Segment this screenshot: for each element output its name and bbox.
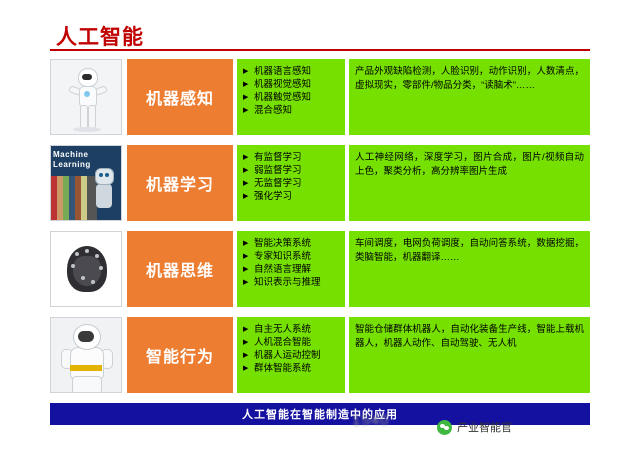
list-item: 强化学习 bbox=[243, 190, 341, 203]
list-item: 人机混合智能 bbox=[243, 336, 341, 349]
detail-text-0: 产品外观缺陷检测，人脸识别，动作识别，人数清点，虚拟现实，零部件/物品分类，“读… bbox=[349, 59, 590, 135]
machine-learning-photo: Machine Learning bbox=[50, 145, 122, 221]
diagram-row: 智能行为 自主无人系统 人机混合智能 机器人运动控制 群体智能系统 智能仓储群体… bbox=[50, 317, 590, 393]
bullet-list-3: 自主无人系统 人机混合智能 机器人运动控制 群体智能系统 bbox=[237, 317, 345, 393]
bullet-list-1: 有监督学习 弱监督学习 无监督学习 强化学习 bbox=[237, 145, 345, 221]
bullet-list-2: 智能决策系统 专家知识系统 自然语言理解 知识表示与推理 bbox=[237, 231, 345, 307]
category-label-0[interactable]: 机器感知 bbox=[127, 59, 233, 135]
list-item: 知识表示与推理 bbox=[243, 276, 341, 289]
diagram-row: 机器感知 机器语言感知 机器视觉感知 机器触觉感知 混合感知 产品外观缺陷检测，… bbox=[50, 59, 590, 135]
detail-text-3: 智能仓储群体机器人，自动化装备生产线，智能上载机器人，机器人动作、自动驾驶、无人… bbox=[349, 317, 590, 393]
bullet-list-0: 机器语言感知 机器视觉感知 机器触觉感知 混合感知 bbox=[237, 59, 345, 135]
watermark-label: 产业智能官 bbox=[457, 419, 512, 435]
diagram-row: 机器思维 智能决策系统 专家知识系统 自然语言理解 知识表示与推理 车间调度，电… bbox=[50, 231, 590, 307]
list-item: 机器触觉感知 bbox=[243, 91, 341, 104]
list-item: 机器人运动控制 bbox=[243, 349, 341, 362]
diagram-row: Machine Learning 机器学习 有监督学习 弱监督学习 无监督学习 … bbox=[50, 145, 590, 221]
category-label-3[interactable]: 智能行为 bbox=[127, 317, 233, 393]
blurred-number: 1540 bbox=[352, 412, 389, 429]
list-item: 自然语言理解 bbox=[243, 263, 341, 276]
slide-canvas: 人工智能 机器感知 机器语言感知 机器视觉感知 机器触觉感知 混合感知 产品外观… bbox=[0, 0, 640, 455]
title-divider bbox=[50, 49, 590, 51]
list-item: 无监督学习 bbox=[243, 177, 341, 190]
detail-text-2: 车间调度，电网负荷调度，自动问答系统，数据挖掘，类脑智能，机器翻译…… bbox=[349, 231, 590, 307]
list-item: 有监督学习 bbox=[243, 151, 341, 164]
list-item: 自主无人系统 bbox=[243, 323, 341, 336]
list-item: 智能决策系统 bbox=[243, 237, 341, 250]
list-item: 机器语言感知 bbox=[243, 65, 341, 78]
list-item: 混合感知 bbox=[243, 104, 341, 117]
list-item: 群体智能系统 bbox=[243, 362, 341, 375]
detail-text-1: 人工神经网络，深度学习，图片合成，图片/视频自动上色，聚类分析，高分辨率图片生成 bbox=[349, 145, 590, 221]
astronaut-photo bbox=[50, 317, 122, 393]
watermark: 产业智能官 bbox=[437, 419, 512, 435]
list-item: 专家知识系统 bbox=[243, 250, 341, 263]
page-title: 人工智能 bbox=[56, 21, 144, 51]
ai-head-photo bbox=[50, 231, 122, 307]
robot-photo bbox=[50, 59, 122, 135]
list-item: 弱监督学习 bbox=[243, 164, 341, 177]
category-label-2[interactable]: 机器思维 bbox=[127, 231, 233, 307]
wechat-icon bbox=[437, 420, 452, 435]
list-item: 机器视觉感知 bbox=[243, 78, 341, 91]
category-label-1[interactable]: 机器学习 bbox=[127, 145, 233, 221]
